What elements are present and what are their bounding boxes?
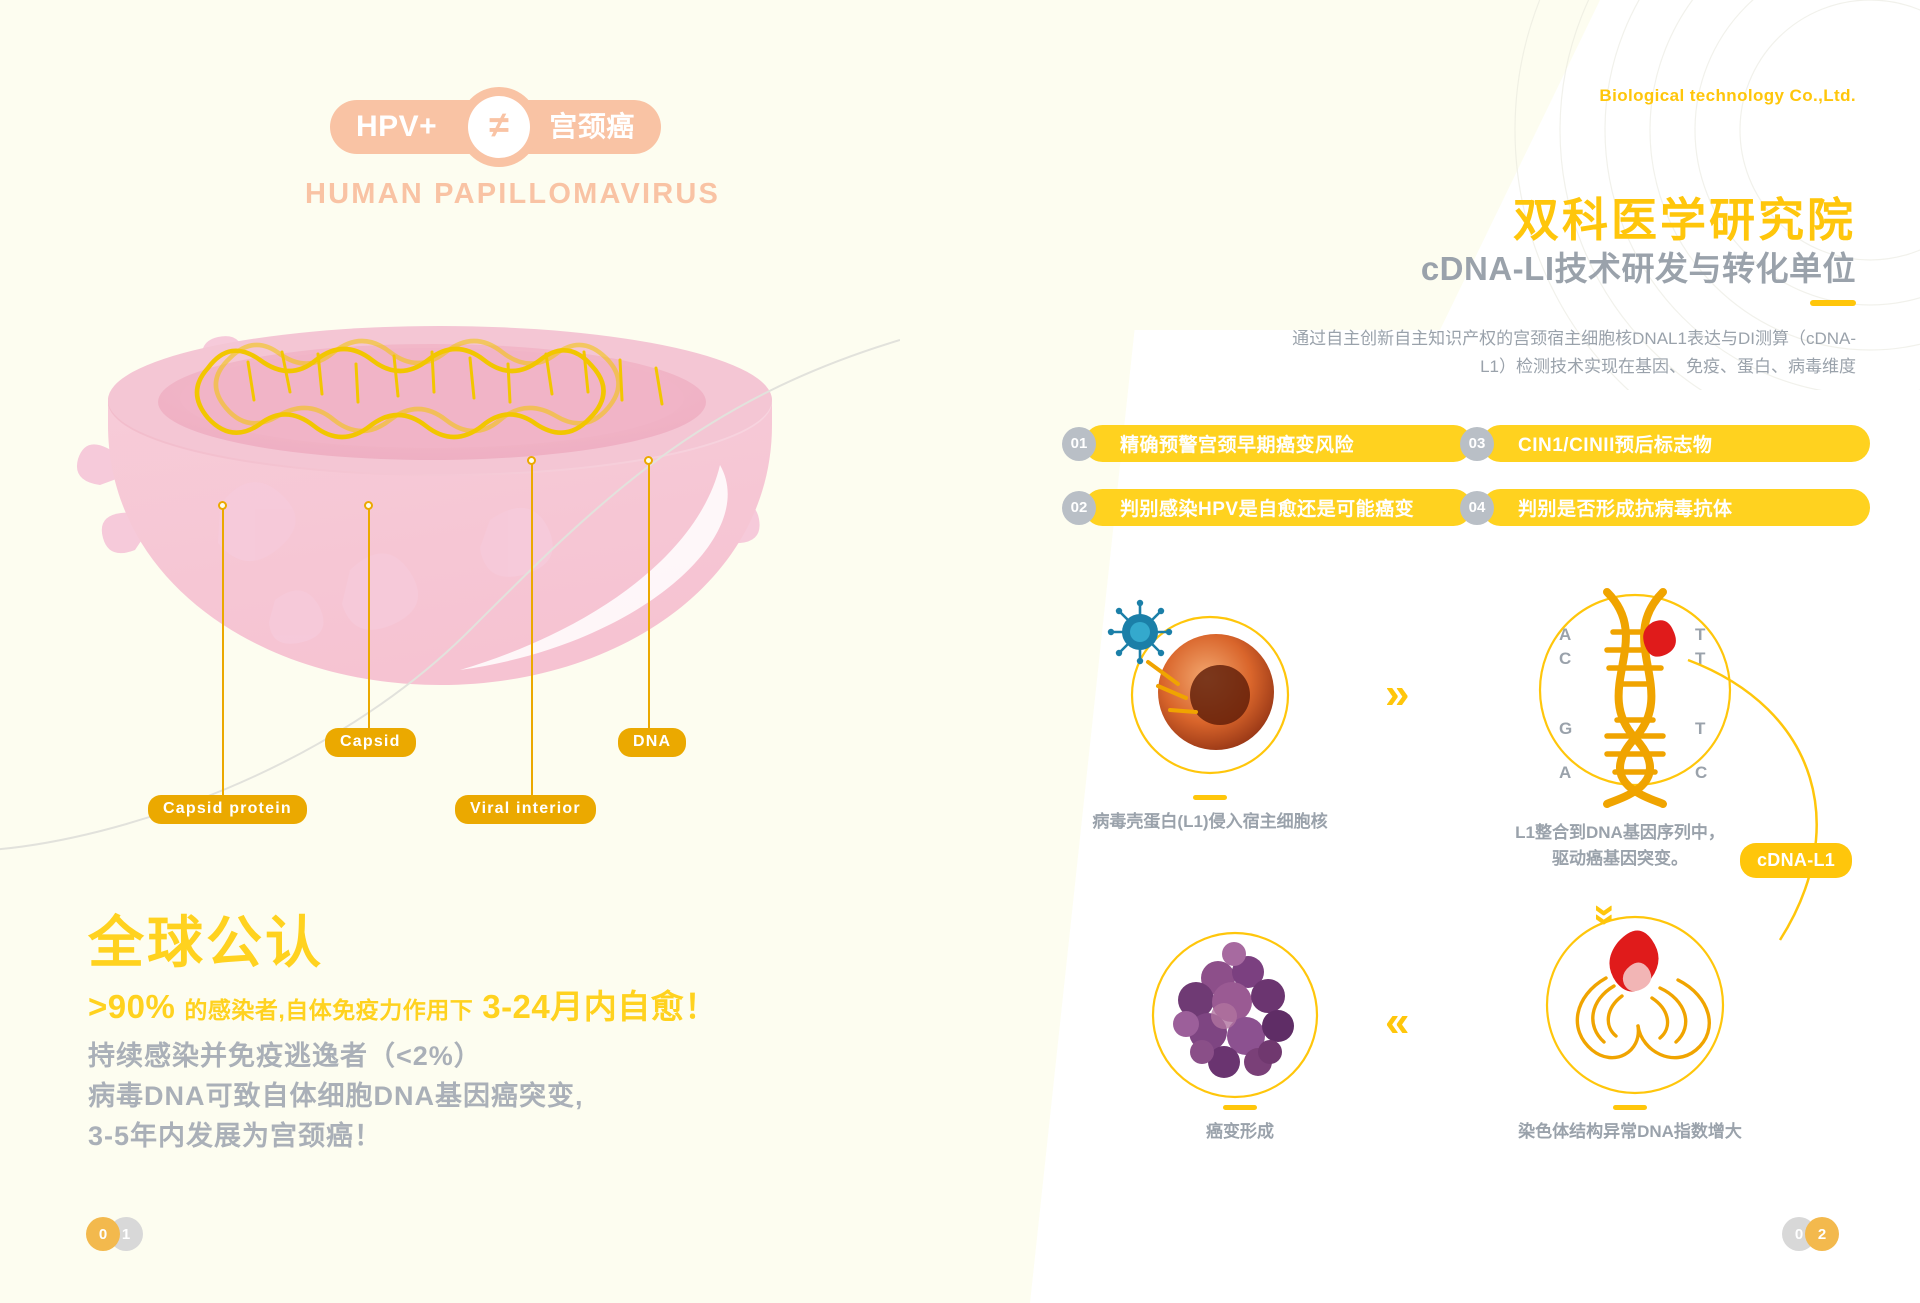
feature-number-02: 02 bbox=[1062, 491, 1096, 525]
company-name: Biological technology Co.,Ltd. bbox=[1599, 86, 1856, 106]
step3-caption: 癌变形成 bbox=[1100, 1105, 1380, 1145]
badge-hpv-text: HPV+ bbox=[356, 112, 437, 142]
step3-tumor-icon bbox=[1120, 920, 1350, 1110]
virus-label-capsid-protein: Capsid protein bbox=[148, 795, 307, 824]
institute-title: 双科医学研究院 bbox=[1513, 184, 1856, 250]
hpv-subtitle: HUMAN PAPILLOMAVIRUS bbox=[305, 178, 720, 211]
feature-number-03: 03 bbox=[1460, 427, 1494, 461]
leader-dot-capsid-protein bbox=[218, 501, 227, 510]
virus-label-capsid: Capsid bbox=[325, 728, 416, 757]
leader-line-viral-interior bbox=[531, 460, 533, 797]
decorative-swoosh-line bbox=[0, 300, 900, 860]
step4-caption-text: 染色体结构异常DNA指数增大 bbox=[1518, 1122, 1742, 1141]
not-equal-icon: ≠ bbox=[459, 87, 539, 167]
body-copy: 持续感染并免疫逃逸者（<2%） 病毒DNA可致自体细胞DNA基因癌突变, 3-5… bbox=[88, 1037, 584, 1157]
dna-base-left-1: A bbox=[1559, 625, 1571, 644]
stat-middle-text: 的感染者,自体免疫力作用下 bbox=[184, 991, 473, 1025]
arrow-right-icon: » bbox=[1385, 672, 1409, 716]
feature-label-01: 精确预警宫颈早期癌变风险 bbox=[1084, 425, 1472, 462]
feature-label-03: CIN1/CINII预后标志物 bbox=[1482, 425, 1870, 462]
step1-virus-cell-icon bbox=[1100, 590, 1310, 790]
step1-caption-text: 病毒壳蛋白(L1)侵入宿主细胞核 bbox=[1092, 812, 1327, 831]
feature-label-04: 判别是否形成抗病毒抗体 bbox=[1482, 489, 1870, 526]
leader-line-capsid bbox=[368, 505, 370, 730]
page-number-right: 0 2 bbox=[1782, 1217, 1839, 1251]
leader-line-capsid-protein bbox=[222, 505, 224, 797]
page-right-digit-2: 2 bbox=[1805, 1217, 1839, 1251]
step4-chromosome-icon bbox=[1510, 900, 1760, 1110]
leader-dot-dna bbox=[644, 456, 653, 465]
feature-pill-02[interactable]: 02 判别感染HPV是自愈还是可能癌变 bbox=[1062, 489, 1472, 526]
badge-cervical-cancer-text: 宫颈癌 bbox=[549, 113, 635, 141]
feature-label-02: 判别感染HPV是自愈还是可能癌变 bbox=[1084, 489, 1472, 526]
dna-base-left-3: G bbox=[1559, 719, 1572, 738]
feature-pill-04[interactable]: 04 判别是否形成抗病毒抗体 bbox=[1460, 489, 1870, 526]
virus-label-viral-interior: Viral interior bbox=[455, 795, 596, 824]
stat-percent: >90% bbox=[88, 988, 175, 1026]
step4-caption: 染色体结构异常DNA指数增大 bbox=[1440, 1105, 1820, 1145]
institute-description: 通过自主创新自主知识产权的宫颈宿主细胞核DNAL1表达与DI测算（cDNA-L1… bbox=[1276, 325, 1856, 381]
feature-number-04: 04 bbox=[1460, 491, 1494, 525]
stat-emphasis: 3-24月内自愈！ bbox=[482, 980, 718, 1028]
page-number-left: 0 1 bbox=[86, 1217, 143, 1251]
caption-dash-1 bbox=[1193, 795, 1227, 800]
leader-dot-viral-interior bbox=[527, 456, 536, 465]
institute-subtitle: cDNA-LI技术研发与转化单位 bbox=[1421, 242, 1856, 290]
not-equal-glyph: ≠ bbox=[468, 96, 530, 158]
statistic-line: >90% 的感染者,自体免疫力作用下 3-24月内自愈！ bbox=[88, 980, 718, 1028]
feature-pill-03[interactable]: 03 CIN1/CINII预后标志物 bbox=[1460, 425, 1870, 462]
arrow-left-icon: « bbox=[1385, 1000, 1409, 1044]
page-left-digit-1: 0 bbox=[86, 1217, 120, 1251]
virus-label-dna: DNA bbox=[618, 728, 686, 757]
leader-line-dna bbox=[648, 460, 650, 730]
headline-global-consensus: 全球公认 bbox=[88, 898, 324, 979]
dna-base-left-4: A bbox=[1559, 763, 1571, 782]
cdna-l1-badge: cDNA-L1 bbox=[1740, 843, 1852, 878]
step1-caption: 病毒壳蛋白(L1)侵入宿主细胞核 bbox=[1030, 795, 1390, 835]
dna-base-left-2: C bbox=[1559, 649, 1571, 668]
leader-dot-capsid bbox=[364, 501, 373, 510]
step3-caption-text: 癌变形成 bbox=[1206, 1122, 1274, 1141]
caption-dash-3 bbox=[1223, 1105, 1257, 1110]
divider-dash bbox=[1810, 300, 1856, 306]
feature-pill-01[interactable]: 01 精确预警宫颈早期癌变风险 bbox=[1062, 425, 1472, 462]
caption-dash-4 bbox=[1613, 1105, 1647, 1110]
infographic-page: HPV+ 宫颈癌 ≠ HUMAN PAPILLOMAVIRUS bbox=[0, 0, 1920, 1303]
feature-number-01: 01 bbox=[1062, 427, 1096, 461]
